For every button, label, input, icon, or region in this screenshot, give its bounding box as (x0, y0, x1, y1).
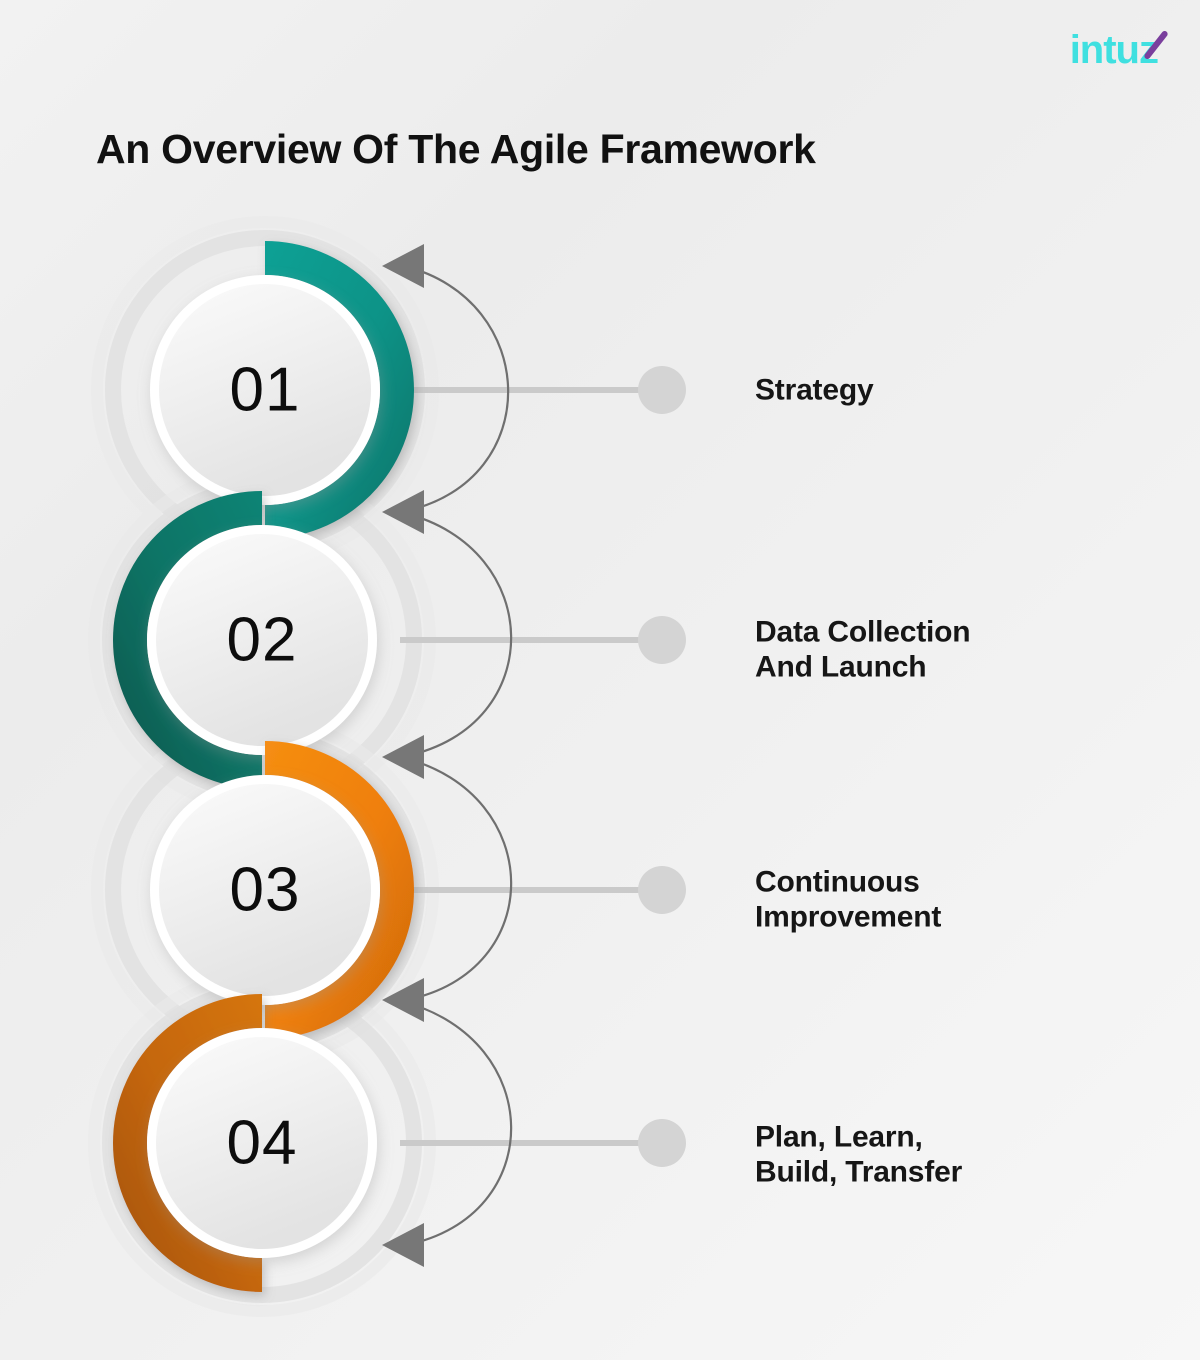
step-label-03-line2: Improvement (755, 900, 941, 935)
connector-dot (638, 616, 686, 664)
infographic-canvas: intuz An Overview Of The Agile Framework (0, 0, 1200, 1360)
connector-lines (400, 366, 686, 1167)
step-label-02: Data Collection And Launch (755, 615, 970, 686)
connector-dot (638, 366, 686, 414)
step-label-02-line2: And Launch (755, 650, 970, 685)
step-label-04-line2: Build, Transfer (755, 1155, 962, 1190)
step-label-04: Plan, Learn, Build, Transfer (755, 1120, 962, 1191)
step-number-04: 04 (227, 1108, 298, 1179)
step-label-01: Strategy (755, 372, 873, 407)
connector-dot (638, 1119, 686, 1167)
connector-dot (638, 866, 686, 914)
step-number-02: 02 (227, 605, 298, 676)
step-label-04-line1: Plan, Learn, (755, 1120, 962, 1155)
step-label-03: Continuous Improvement (755, 865, 941, 936)
step-number-03: 03 (230, 855, 301, 926)
diagram-artwork (0, 0, 1200, 1360)
step-number-01: 01 (230, 355, 301, 426)
step-label-01-line1: Strategy (755, 372, 873, 407)
step-label-02-line1: Data Collection (755, 615, 970, 650)
step-label-03-line1: Continuous (755, 865, 941, 900)
